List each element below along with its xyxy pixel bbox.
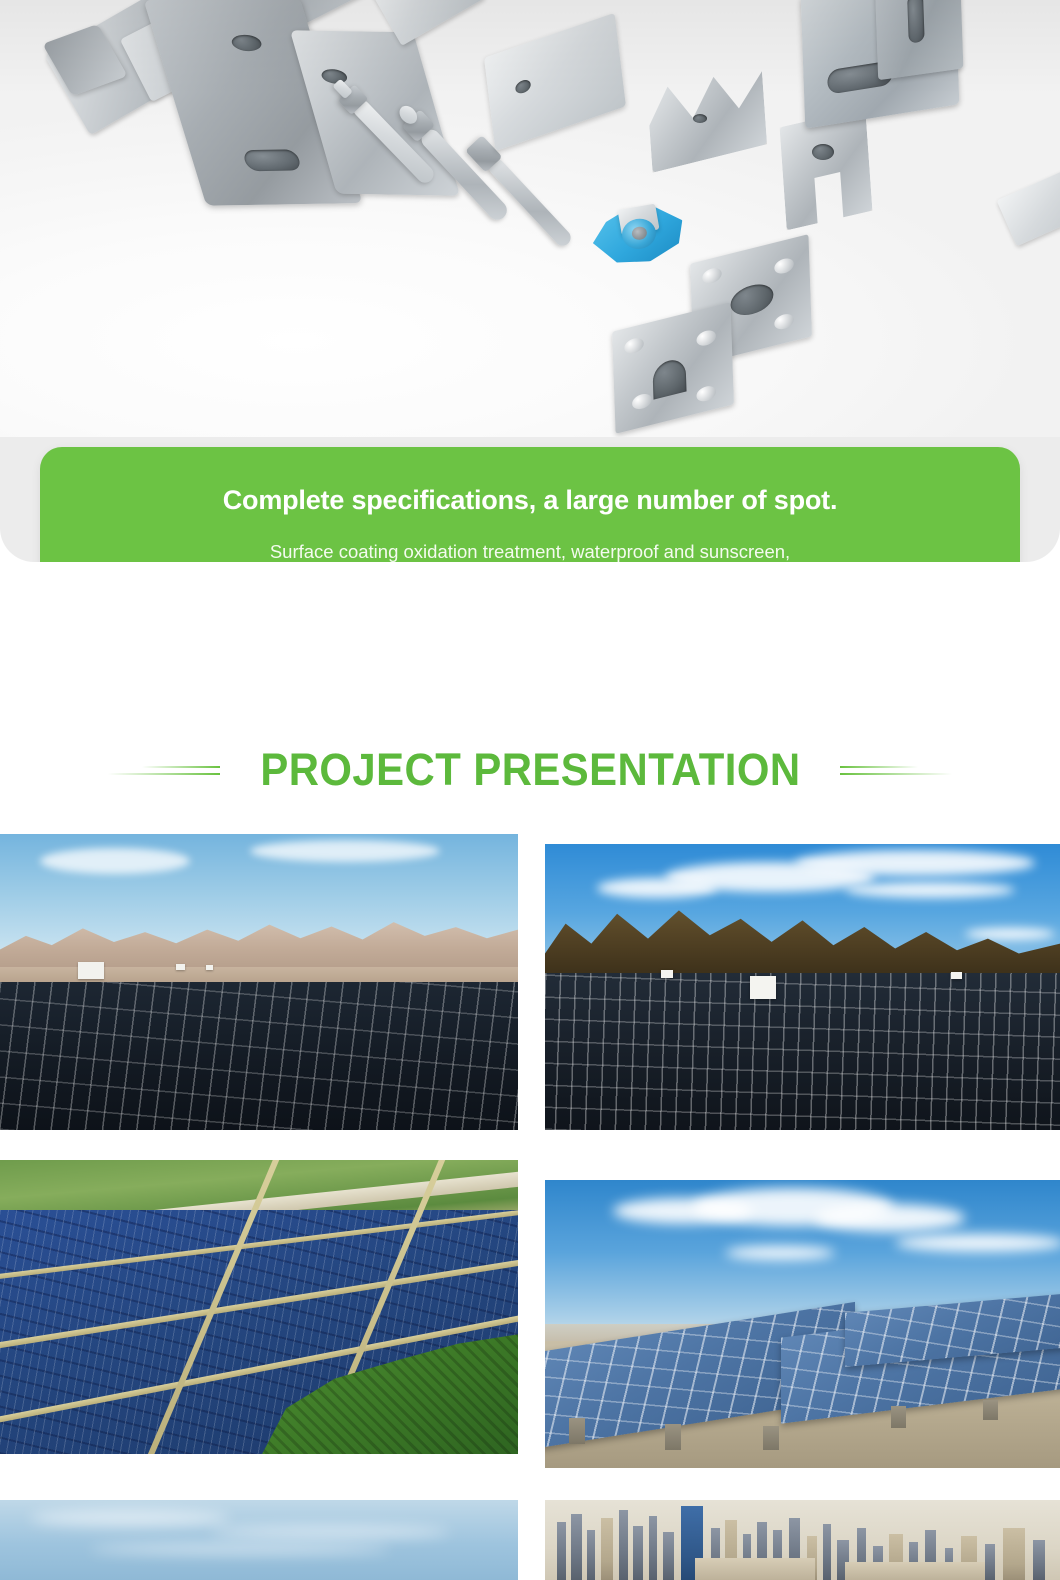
gallery-item-desert-blue-array[interactable] — [545, 1180, 1060, 1468]
gallery-item-sky-cropped[interactable] — [0, 1500, 518, 1580]
gallery-item-aerial-blue-farm[interactable] — [0, 1160, 518, 1454]
gallery-item-city-skyline-cropped[interactable] — [545, 1500, 1060, 1580]
bracket-slot — [242, 149, 303, 171]
callout-subtitle: Surface coating oxidation treatment, wat… — [270, 528, 790, 562]
gallery-row — [0, 1160, 1060, 1500]
photo-desert-blue-array — [545, 1180, 1060, 1468]
blue-plastic-clip — [588, 197, 689, 270]
product-photo — [0, 0, 1060, 437]
photo-sky-cropped — [0, 1500, 518, 1580]
callout-title: Complete specifications, a large number … — [223, 485, 838, 516]
mid-clamp-hole — [693, 114, 707, 123]
gallery-row — [0, 834, 1060, 1160]
flat-bar — [997, 156, 1060, 246]
hero-product-panel: Complete specifications, a large number … — [0, 0, 1060, 562]
post-slot — [907, 0, 925, 44]
gallery-item-brown-hills-farm[interactable] — [545, 844, 1060, 1130]
gallery-row — [0, 1500, 1060, 1580]
callout-subtitle-line-1: Surface coating oxidation treatment, wat… — [270, 528, 790, 562]
aluminium-end-clamp — [780, 108, 873, 231]
aluminium-clamp-plate — [484, 13, 626, 151]
photo-desert-mountain-farm — [0, 834, 518, 1130]
photo-brown-hills-farm — [545, 844, 1060, 1130]
welded-post — [875, 0, 964, 80]
gallery-item-desert-mountain-farm[interactable] — [0, 834, 518, 1130]
heading-rule-right-icon — [828, 755, 956, 785]
stainless-plate-keyhole — [612, 302, 734, 434]
aluminium-mid-clamp — [647, 63, 767, 173]
project-gallery — [0, 834, 1060, 1580]
end-clamp-hole — [812, 144, 834, 160]
section-title: PROJECT PRESENTATION — [252, 744, 807, 796]
specifications-callout-card: Complete specifications, a large number … — [40, 447, 1020, 562]
photo-aerial-blue-farm — [0, 1160, 518, 1454]
clamp-hole — [515, 78, 532, 95]
project-presentation-heading: PROJECT PRESENTATION — [0, 724, 1060, 816]
heading-rule-left-icon — [104, 755, 232, 785]
bracket-hole — [230, 35, 264, 52]
photo-city-skyline-cropped — [545, 1500, 1060, 1580]
